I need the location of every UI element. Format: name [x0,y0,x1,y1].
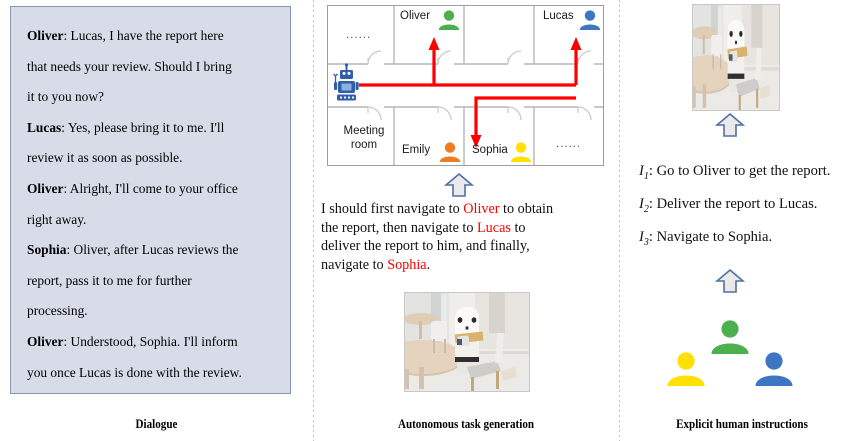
dialogue-text: Understood, Sophia. I'll inform [71,334,238,349]
dialogue-line: review it as soon as possible. [27,143,276,174]
dialogue-text: Lucas, I have the report here [71,28,224,43]
thought-line-2: the report, then navigate to Lucas to [321,219,613,238]
speaker-name: Lucas [27,120,61,135]
robot-photo-graphic [405,293,529,391]
dialogue-text: Yes, please bring it to me. I'll [68,120,225,135]
robot-photo-graphic [693,5,779,110]
dialogue-line: you once Lucas is done with the review. [27,358,276,389]
dialogue-text: right away. [27,212,86,227]
room-label-ellipsis-bottom: ...... [556,138,581,150]
highlight-sophia: Sophia [387,257,426,273]
person-icon-yellow [666,352,706,386]
person-icon-lucas [579,10,601,30]
dialogue-text: Alright, I'll come to your office [70,181,238,196]
robot-photo-right [692,4,780,111]
dialogue-line: processing. [27,296,276,327]
thought-line-1: I should first navigate to Oliver to obt… [321,200,613,219]
robot-photo-middle [404,292,530,392]
speaker-name: Oliver [27,28,63,43]
dialogue-text: you once Lucas is done with the review. [27,365,242,380]
arrowhead-oliver [429,37,440,50]
dialogue-line: report, pass it to me for further [27,266,276,297]
instruction-3: I3: Navigate to Sophia. [639,229,772,248]
dialogue-text: it to you now? [27,89,104,104]
caption-explicit: Explicit human instructions [634,417,850,432]
room-label-meeting: Meeting room [338,124,390,152]
thought-line-3: deliver the report to him, and finally, [321,237,613,256]
speaker-name: Oliver [27,181,63,196]
highlight-oliver: Oliver [463,201,499,217]
dialogue-line: Oliver: Lucas, I have the report here [27,21,276,52]
arrowhead-lucas [571,37,582,50]
person-icon-blue [754,352,794,386]
instruction-2: I2: Deliver the report to Lucas. [639,196,817,215]
dialogue-line: Oliver: Alright, I'll come to your offic… [27,174,276,205]
instruction-text: : Go to Oliver to get the report. [649,163,831,179]
person-icon-green [710,320,750,354]
room-label-ellipsis-top: ...... [346,29,371,41]
robot-icon [334,63,359,100]
person-icon-sophia [510,142,532,162]
speaker-name: Oliver [27,334,63,349]
dialogue-text: that needs your review. Should I bring [27,59,232,74]
room-label-emily: Emily [402,144,430,156]
dialogue-box: Oliver: Lucas, I have the report here th… [10,6,291,394]
dialogue-line: it to you now? [27,82,276,113]
speaker-name: Sophia [27,242,66,257]
panel-dialogue: Oliver: Lucas, I have the report here th… [0,0,313,441]
panel-divider-right [619,0,620,441]
room-label-sophia: Sophia [472,144,508,156]
caption-dialogue: Dialogue [19,417,294,432]
room-label-lucas: Lucas [543,10,574,22]
up-arrow-icon-top [715,112,745,138]
panel-divider-left [313,0,314,441]
dialogue-line: Sophia: Oliver, after Lucas reviews the [27,235,276,266]
instruction-text: : Deliver the report to Lucas. [649,196,818,212]
dialogue-text: Oliver, after Lucas reviews the [74,242,239,257]
instruction-1: I1: Go to Oliver to get the report. [639,163,830,182]
highlight-lucas: Lucas [477,220,511,236]
instruction-text: : Navigate to Sophia. [649,229,772,245]
person-icon-emily [439,142,461,162]
dialogue-line: right away. [27,205,276,236]
dialogue-text: report, pass it to me for further [27,273,192,288]
thought-line-4: navigate to Sophia. [321,256,613,275]
person-icon-oliver [438,10,460,30]
floorplan-diagram: ...... Oliver Lucas Meeting room Emily S… [327,5,604,166]
autonomous-thought-text: I should first navigate to Oliver to obt… [321,200,613,274]
dialogue-text: processing. [27,303,88,318]
up-arrow-icon-bottom [715,268,745,294]
room-label-oliver: Oliver [400,10,430,22]
caption-autonomous: Autonomous task generation [331,417,600,432]
up-arrow-icon [444,172,474,198]
dialogue-line: Oliver: Understood, Sophia. I'll inform [27,327,276,358]
dialogue-text: review it as soon as possible. [27,150,182,165]
dialogue-line: that needs your review. Should I bring [27,52,276,83]
dialogue-line: Lucas: Yes, please bring it to me. I'll [27,113,276,144]
